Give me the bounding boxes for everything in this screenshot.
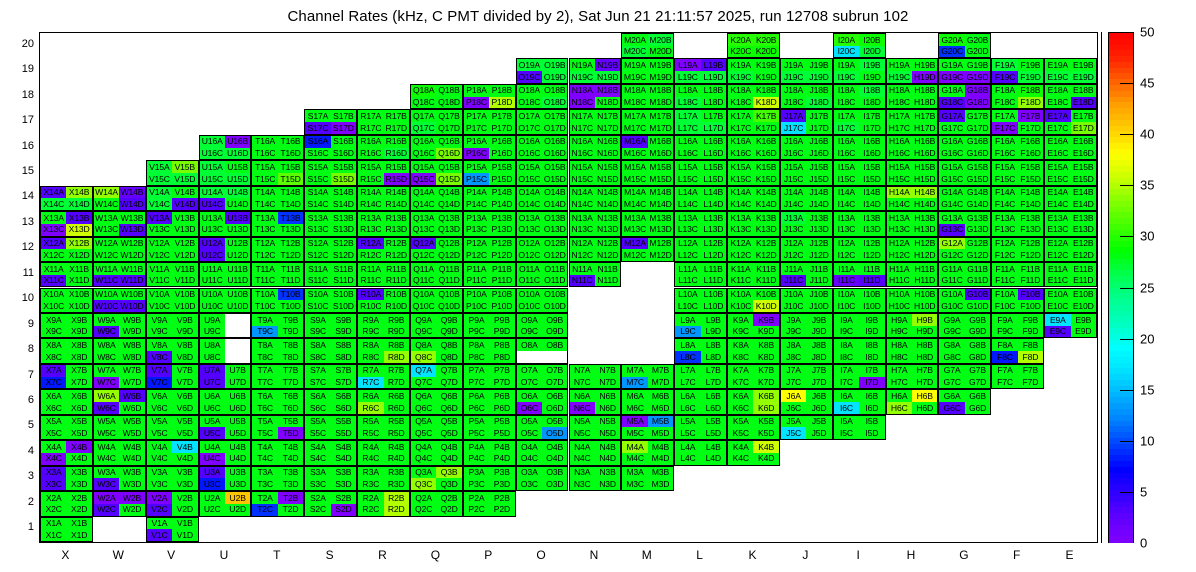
pmt-subchannel[interactable]: P13B (489, 212, 514, 224)
pmt-subchannel[interactable]: H12C (887, 249, 912, 261)
pmt-subchannel[interactable]: G11C (939, 275, 964, 287)
pmt-subchannel[interactable]: G12A (939, 238, 964, 250)
pmt-subchannel[interactable]: G19D (965, 71, 990, 83)
pmt-subchannel[interactable]: E12B (1071, 238, 1096, 250)
pmt-subchannel[interactable]: O10C (517, 300, 542, 312)
pmt-cell[interactable]: L6AL6BL6CL6D (674, 389, 727, 414)
pmt-subchannel[interactable]: O7D (542, 377, 567, 389)
pmt-cell[interactable]: W13AW13BW13CW13D (93, 211, 146, 236)
pmt-subchannel[interactable]: U12B (225, 238, 250, 250)
pmt-subchannel[interactable]: N11A (570, 263, 595, 275)
pmt-subchannel[interactable]: V8A (147, 339, 172, 351)
pmt-subchannel[interactable]: E17D (1071, 122, 1096, 134)
pmt-subchannel[interactable]: J13C (781, 224, 806, 236)
pmt-subchannel[interactable]: R13C (358, 224, 383, 236)
pmt-subchannel[interactable]: S7A (305, 365, 330, 377)
pmt-subchannel[interactable]: J11C (781, 275, 806, 287)
pmt-subchannel[interactable]: V15C (147, 173, 172, 185)
pmt-subchannel[interactable]: Q12A (411, 238, 436, 250)
pmt-subchannel[interactable]: S5B (331, 416, 356, 428)
pmt-subchannel[interactable]: P18B (489, 85, 514, 97)
pmt-subchannel[interactable]: E10B (1071, 289, 1096, 301)
pmt-cell[interactable]: J14AJ14BJ14CJ14D (780, 186, 833, 211)
pmt-subchannel[interactable]: X11D (66, 275, 91, 287)
pmt-subchannel[interactable]: X9D (66, 326, 91, 338)
pmt-subchannel[interactable]: K12C (728, 249, 753, 261)
pmt-cell[interactable]: K12AK12BK12CK12D (727, 237, 780, 262)
pmt-subchannel[interactable]: T14A (252, 187, 277, 199)
pmt-subchannel[interactable]: Q18B (436, 85, 461, 97)
pmt-subchannel[interactable]: V1B (172, 518, 197, 530)
pmt-subchannel[interactable]: N4A (570, 441, 595, 453)
pmt-subchannel[interactable]: P15B (489, 161, 514, 173)
pmt-subchannel[interactable]: O5B (542, 416, 567, 428)
pmt-subchannel[interactable]: M16D (648, 148, 673, 160)
pmt-cell[interactable]: K11AK11BK11CK11D (727, 262, 780, 287)
pmt-cell[interactable]: J13AJ13BJ13CJ13D (780, 211, 833, 236)
pmt-subchannel[interactable]: V5A (147, 416, 172, 428)
pmt-subchannel[interactable]: W7B (119, 365, 144, 377)
pmt-subchannel[interactable]: T4C (252, 453, 277, 465)
pmt-subchannel[interactable]: T15A (252, 161, 277, 173)
pmt-cell[interactable]: H17AH17BH17CH17D (886, 109, 939, 134)
pmt-subchannel[interactable]: O13B (542, 212, 567, 224)
pmt-subchannel[interactable]: U3B (225, 467, 250, 479)
pmt-subchannel[interactable]: I12A (834, 238, 859, 250)
pmt-subchannel[interactable]: U13D (225, 224, 250, 236)
pmt-cell[interactable]: W14AW14BW14CW14D (93, 186, 146, 211)
pmt-cell[interactable]: H6AH6BH6CH6D (886, 389, 939, 414)
pmt-cell[interactable]: F15AF15BF15CF15D (991, 160, 1044, 185)
pmt-subchannel[interactable]: O19C (517, 71, 542, 83)
pmt-subchannel[interactable]: K6D (753, 402, 778, 414)
pmt-subchannel[interactable]: G13A (939, 212, 964, 224)
pmt-subchannel[interactable]: S8D (331, 351, 356, 363)
pmt-cell[interactable]: N5AN5BN5CN5D (569, 415, 622, 440)
pmt-subchannel[interactable]: M7A (622, 365, 647, 377)
pmt-subchannel[interactable]: I14D (859, 198, 884, 210)
pmt-subchannel[interactable]: R10C (358, 300, 383, 312)
pmt-subchannel[interactable]: M15B (648, 161, 673, 173)
pmt-subchannel[interactable]: M6A (622, 390, 647, 402)
pmt-subchannel[interactable]: O3A (517, 467, 542, 479)
pmt-cell[interactable]: W9AW9BW9CW9D (93, 313, 146, 338)
pmt-subchannel[interactable]: H14B (912, 187, 937, 199)
pmt-subchannel[interactable]: K17D (753, 122, 778, 134)
pmt-subchannel[interactable]: S17D (331, 122, 356, 134)
pmt-subchannel[interactable]: L5B (701, 416, 726, 428)
pmt-subchannel[interactable]: F13A (992, 212, 1017, 224)
pmt-subchannel[interactable]: V3D (172, 478, 197, 490)
pmt-subchannel[interactable]: H19C (887, 71, 912, 83)
pmt-subchannel[interactable]: J6D (806, 402, 831, 414)
pmt-subchannel[interactable]: N4B (595, 441, 620, 453)
pmt-subchannel[interactable]: R17B (384, 110, 409, 122)
pmt-cell[interactable]: E15AE15BE15CE15D (1044, 160, 1097, 185)
pmt-subchannel[interactable]: R14B (384, 187, 409, 199)
pmt-subchannel[interactable]: G8D (965, 351, 990, 363)
pmt-subchannel[interactable]: H17D (912, 122, 937, 134)
pmt-subchannel[interactable]: V6B (172, 390, 197, 402)
pmt-subchannel[interactable]: N16D (595, 148, 620, 160)
pmt-subchannel[interactable]: J9D (806, 326, 831, 338)
pmt-cell[interactable]: S16AS16BS16CS16D (304, 135, 357, 160)
pmt-subchannel[interactable]: M13A (622, 212, 647, 224)
pmt-cell[interactable]: I12AI12BI12CI12D (833, 237, 886, 262)
pmt-subchannel[interactable]: U9C (200, 326, 225, 338)
pmt-subchannel[interactable]: R2C (358, 504, 383, 516)
pmt-subchannel[interactable]: S14D (331, 198, 356, 210)
pmt-subchannel[interactable]: J19C (781, 71, 806, 83)
pmt-subchannel[interactable]: P10B (489, 289, 514, 301)
pmt-subchannel[interactable]: L4C (675, 453, 700, 465)
pmt-subchannel[interactable]: M14B (648, 187, 673, 199)
pmt-subchannel[interactable]: S17A (305, 110, 330, 122)
pmt-subchannel[interactable]: W11C (94, 275, 119, 287)
pmt-subchannel[interactable]: R4C (358, 453, 383, 465)
pmt-cell[interactable]: O15AO15BO15CO15D (516, 160, 569, 185)
pmt-subchannel[interactable]: L11C (675, 275, 700, 287)
pmt-subchannel[interactable]: R7D (384, 377, 409, 389)
pmt-subchannel[interactable]: O14B (542, 187, 567, 199)
pmt-cell[interactable]: K9AK9BK9CK9D (727, 313, 780, 338)
pmt-subchannel[interactable]: J5B (806, 416, 831, 428)
pmt-subchannel[interactable]: M19A (622, 59, 647, 71)
pmt-subchannel[interactable]: W8D (119, 351, 144, 363)
pmt-subchannel[interactable]: E18D (1071, 97, 1096, 109)
pmt-subchannel[interactable]: T5D (278, 427, 303, 439)
pmt-cell[interactable]: P17AP17BP17CP17D (463, 109, 516, 134)
pmt-subchannel[interactable]: G10B (965, 289, 990, 301)
pmt-cell[interactable]: T6AT6BT6CT6D (251, 389, 304, 414)
pmt-cell[interactable]: T15AT15BT15CT15D (251, 160, 304, 185)
pmt-subchannel[interactable]: T3B (278, 467, 303, 479)
pmt-cell[interactable]: J9AJ9BJ9CJ9D (780, 313, 833, 338)
pmt-subchannel[interactable]: T7B (278, 365, 303, 377)
pmt-subchannel[interactable]: V6D (172, 402, 197, 414)
pmt-subchannel[interactable]: H13C (887, 224, 912, 236)
pmt-subchannel[interactable]: W13A (94, 212, 119, 224)
pmt-cell[interactable]: R7AR7BR7CR7D (357, 364, 410, 389)
pmt-subchannel[interactable]: U13C (200, 224, 225, 236)
pmt-subchannel[interactable]: I20B (859, 34, 884, 46)
pmt-subchannel[interactable]: E11A (1045, 263, 1070, 275)
pmt-subchannel[interactable]: W7C (94, 377, 119, 389)
pmt-subchannel[interactable]: H18B (912, 85, 937, 97)
pmt-subchannel[interactable]: V5B (172, 416, 197, 428)
pmt-subchannel[interactable]: X5D (66, 427, 91, 439)
pmt-subchannel[interactable]: M13D (648, 224, 673, 236)
pmt-subchannel[interactable]: X6C (41, 402, 66, 414)
pmt-subchannel[interactable]: T12C (252, 249, 277, 261)
pmt-cell[interactable]: F12AF12BF12CF12D (991, 237, 1044, 262)
pmt-subchannel[interactable]: G8B (965, 339, 990, 351)
pmt-cell[interactable]: J12AJ12BJ12CJ12D (780, 237, 833, 262)
pmt-subchannel[interactable]: M4B (648, 441, 673, 453)
pmt-subchannel[interactable]: M17B (648, 110, 673, 122)
pmt-cell[interactable]: E17AE17BE17CE17D (1044, 109, 1097, 134)
pmt-subchannel[interactable]: V1D (172, 529, 197, 541)
pmt-subchannel[interactable]: P7A (464, 365, 489, 377)
pmt-subchannel[interactable]: P17C (464, 122, 489, 134)
pmt-subchannel[interactable]: W3D (119, 478, 144, 490)
pmt-subchannel[interactable]: E11D (1071, 275, 1096, 287)
pmt-subchannel[interactable]: J8A (781, 339, 806, 351)
pmt-subchannel[interactable]: J9C (781, 326, 806, 338)
pmt-cell[interactable]: Q11AQ11BQ11CQ11D (410, 262, 463, 287)
pmt-subchannel[interactable]: O8B (542, 339, 567, 351)
pmt-subchannel[interactable]: T12D (278, 249, 303, 261)
pmt-subchannel[interactable]: O15B (542, 161, 567, 173)
pmt-subchannel[interactable]: H7C (887, 377, 912, 389)
pmt-cell[interactable]: L18AL18BL18CL18D (674, 84, 727, 109)
pmt-subchannel[interactable]: J13A (781, 212, 806, 224)
pmt-cell[interactable]: M14AM14BM14CM14D (621, 186, 674, 211)
pmt-subchannel[interactable]: L13C (675, 224, 700, 236)
pmt-subchannel[interactable]: V9B (172, 314, 197, 326)
pmt-subchannel[interactable]: P7C (464, 377, 489, 389)
pmt-subchannel[interactable]: R16D (384, 148, 409, 160)
pmt-subchannel[interactable]: J8D (806, 351, 831, 363)
pmt-subchannel[interactable]: U11B (225, 263, 250, 275)
pmt-cell[interactable]: F18AF18BF18CF18D (991, 84, 1044, 109)
pmt-subchannel[interactable]: G14C (939, 198, 964, 210)
pmt-cell[interactable]: E9AE9BE9CE9D (1044, 313, 1097, 338)
pmt-subchannel[interactable]: P17D (489, 122, 514, 134)
pmt-subchannel[interactable]: E19C (1045, 71, 1070, 83)
pmt-subchannel[interactable]: G6B (965, 390, 990, 402)
pmt-subchannel[interactable]: M15D (648, 173, 673, 185)
pmt-subchannel[interactable]: T6D (278, 402, 303, 414)
pmt-cell[interactable]: M20AM20BM20CM20D (621, 33, 674, 58)
pmt-subchannel[interactable]: M7D (648, 377, 673, 389)
pmt-cell[interactable]: I6AI6BI6CI6D (833, 389, 886, 414)
pmt-subchannel[interactable]: M20D (648, 46, 673, 58)
pmt-subchannel[interactable]: J6B (806, 390, 831, 402)
pmt-cell[interactable]: Q5AQ5BQ5CQ5D (410, 415, 463, 440)
pmt-subchannel[interactable]: G13C (939, 224, 964, 236)
pmt-subchannel[interactable]: L14C (675, 198, 700, 210)
pmt-cell[interactable]: E14AE14BE14CE14D (1044, 186, 1097, 211)
pmt-cell[interactable]: P15AP15BP15CP15D (463, 160, 516, 185)
pmt-subchannel[interactable]: Q13C (411, 224, 436, 236)
pmt-cell[interactable]: X4AX4BX4CX4D (40, 440, 93, 465)
pmt-subchannel[interactable]: N15B (595, 161, 620, 173)
pmt-subchannel[interactable]: Q8B (436, 339, 461, 351)
pmt-subchannel[interactable]: N6C (570, 402, 595, 414)
pmt-cell[interactable]: U10AU10BU10CU10D (199, 288, 252, 313)
pmt-subchannel[interactable]: Q13B (436, 212, 461, 224)
pmt-subchannel[interactable]: M3D (648, 478, 673, 490)
pmt-subchannel[interactable]: U13B (225, 212, 250, 224)
pmt-subchannel[interactable]: L8A (675, 339, 700, 351)
pmt-subchannel[interactable]: K15B (753, 161, 778, 173)
pmt-subchannel[interactable]: P18A (464, 85, 489, 97)
pmt-cell[interactable]: E11AE11BE11CE11D (1044, 262, 1097, 287)
pmt-cell[interactable]: S7AS7BS7CS7D (304, 364, 357, 389)
pmt-subchannel[interactable]: K8A (728, 339, 753, 351)
pmt-cell[interactable]: X8AX8BX8CX8D (40, 338, 93, 363)
pmt-subchannel[interactable]: N16B (595, 136, 620, 148)
pmt-subchannel[interactable]: K9C (728, 326, 753, 338)
pmt-subchannel[interactable]: Q9B (436, 314, 461, 326)
pmt-subchannel[interactable]: Q4B (436, 441, 461, 453)
pmt-subchannel[interactable]: P16C (464, 148, 489, 160)
pmt-subchannel[interactable]: T3D (278, 478, 303, 490)
pmt-cell[interactable]: T12AT12BT12CT12D (251, 237, 304, 262)
pmt-subchannel[interactable]: S9D (331, 326, 356, 338)
pmt-subchannel[interactable]: K7C (728, 377, 753, 389)
pmt-cell[interactable]: U8AU8C (199, 338, 252, 363)
pmt-subchannel[interactable]: I18D (859, 97, 884, 109)
pmt-subchannel[interactable]: J5C (781, 427, 806, 439)
pmt-cell[interactable]: S11AS11BS11CS11D (304, 262, 357, 287)
pmt-subchannel[interactable]: U16B (225, 136, 250, 148)
pmt-cell[interactable]: L13AL13BL13CL13D (674, 211, 727, 236)
pmt-subchannel[interactable]: P4D (489, 453, 514, 465)
pmt-subchannel[interactable]: M7B (648, 365, 673, 377)
pmt-subchannel[interactable]: I14C (834, 198, 859, 210)
pmt-cell[interactable]: X2AX2BX2CX2D (40, 491, 93, 516)
pmt-cell[interactable]: V4AV4BV4CV4D (146, 440, 199, 465)
pmt-subchannel[interactable]: I17B (859, 110, 884, 122)
pmt-subchannel[interactable]: O3B (542, 467, 567, 479)
pmt-subchannel[interactable]: K14D (753, 198, 778, 210)
pmt-subchannel[interactable]: G13B (965, 212, 990, 224)
pmt-subchannel[interactable]: J15D (806, 173, 831, 185)
pmt-subchannel[interactable]: M5D (648, 427, 673, 439)
pmt-subchannel[interactable]: M18A (622, 85, 647, 97)
pmt-subchannel[interactable]: N15A (570, 161, 595, 173)
pmt-subchannel[interactable]: S14A (305, 187, 330, 199)
pmt-subchannel[interactable]: O12A (517, 238, 542, 250)
pmt-subchannel[interactable]: P17B (489, 110, 514, 122)
pmt-subchannel[interactable]: R5C (358, 427, 383, 439)
pmt-cell[interactable]: W4AW4BW4CW4D (93, 440, 146, 465)
pmt-subchannel[interactable]: H18D (912, 97, 937, 109)
pmt-subchannel[interactable]: R10A (358, 289, 383, 301)
pmt-subchannel[interactable]: I15C (834, 173, 859, 185)
pmt-cell[interactable]: K4AK4BK4CK4D (727, 440, 780, 465)
pmt-cell[interactable]: V10AV10BV10CV10D (146, 288, 199, 313)
pmt-subchannel[interactable]: E17A (1045, 110, 1070, 122)
pmt-subchannel[interactable]: U4D (225, 453, 250, 465)
pmt-subchannel[interactable]: K11A (728, 263, 753, 275)
pmt-subchannel[interactable]: T6B (278, 390, 303, 402)
pmt-subchannel[interactable]: L9D (701, 326, 726, 338)
pmt-subchannel[interactable]: V3A (147, 467, 172, 479)
pmt-subchannel[interactable]: T2C (252, 504, 277, 516)
pmt-subchannel[interactable]: Q4D (436, 453, 461, 465)
pmt-subchannel[interactable]: O16D (542, 148, 567, 160)
pmt-subchannel[interactable]: O17B (542, 110, 567, 122)
pmt-cell[interactable]: L10AL10BL10CL10D (674, 288, 727, 313)
pmt-subchannel[interactable]: P5A (464, 416, 489, 428)
pmt-subchannel[interactable]: Q2D (436, 504, 461, 516)
pmt-cell[interactable]: V9AV9BV9CV9D (146, 313, 199, 338)
pmt-subchannel[interactable]: E16C (1045, 148, 1070, 160)
pmt-subchannel[interactable]: L18D (701, 97, 726, 109)
pmt-subchannel[interactable]: K20D (753, 46, 778, 58)
pmt-subchannel[interactable]: Q14A (411, 187, 436, 199)
pmt-subchannel[interactable]: K12D (753, 249, 778, 261)
pmt-subchannel[interactable]: O4B (542, 441, 567, 453)
pmt-subchannel[interactable]: H10D (912, 300, 937, 312)
pmt-subchannel[interactable]: R9C (358, 326, 383, 338)
pmt-cell[interactable]: J8AJ8BJ8CJ8D (780, 338, 833, 363)
pmt-subchannel[interactable]: G18D (965, 97, 990, 109)
pmt-subchannel[interactable]: V10C (147, 300, 172, 312)
pmt-subchannel[interactable]: G9A (939, 314, 964, 326)
pmt-cell[interactable]: P10AP10BP10CP10D (463, 288, 516, 313)
pmt-subchannel[interactable]: R15B (384, 161, 409, 173)
pmt-cell[interactable]: O5AO5BO5CO5D (516, 415, 569, 440)
pmt-subchannel[interactable]: S3B (331, 467, 356, 479)
pmt-subchannel[interactable]: P15D (489, 173, 514, 185)
pmt-cell[interactable]: T8AT8BT8CT8D (251, 338, 304, 363)
pmt-subchannel[interactable]: N19B (595, 59, 620, 71)
pmt-subchannel[interactable]: R7A (358, 365, 383, 377)
pmt-subchannel[interactable]: Q12C (411, 249, 436, 261)
pmt-subchannel[interactable]: F7B (1018, 365, 1043, 377)
pmt-subchannel[interactable]: Q15B (436, 161, 461, 173)
pmt-subchannel[interactable]: N16A (570, 136, 595, 148)
pmt-cell[interactable]: R9AR9BR9CR9D (357, 313, 410, 338)
pmt-subchannel[interactable]: L10B (701, 289, 726, 301)
pmt-subchannel[interactable]: V5C (147, 427, 172, 439)
pmt-subchannel[interactable]: S3C (305, 478, 330, 490)
pmt-subchannel[interactable]: I10B (859, 289, 884, 301)
pmt-subchannel[interactable]: K11C (728, 275, 753, 287)
pmt-subchannel[interactable]: G17A (939, 110, 964, 122)
pmt-subchannel[interactable]: O12C (517, 249, 542, 261)
pmt-cell[interactable]: S8AS8BS8CS8D (304, 338, 357, 363)
pmt-subchannel[interactable]: N6A (570, 390, 595, 402)
pmt-subchannel[interactable]: L17D (701, 122, 726, 134)
pmt-subchannel[interactable]: N3A (570, 467, 595, 479)
pmt-subchannel[interactable]: S15B (331, 161, 356, 173)
pmt-subchannel[interactable]: T16A (252, 136, 277, 148)
pmt-subchannel[interactable]: E9B (1071, 314, 1096, 326)
pmt-cell[interactable]: T4AT4BT4CT4D (251, 440, 304, 465)
pmt-cell[interactable]: U12AU12BU12CU12D (199, 237, 252, 262)
pmt-cell[interactable]: T9AT9BT9CT9D (251, 313, 304, 338)
pmt-subchannel[interactable]: O10D (542, 300, 567, 312)
pmt-subchannel[interactable]: U10D (225, 300, 250, 312)
pmt-subchannel[interactable]: G17B (965, 110, 990, 122)
pmt-cell[interactable]: O6AO6BO6CO6D (516, 389, 569, 414)
pmt-subchannel[interactable]: K20C (728, 46, 753, 58)
pmt-subchannel[interactable]: G6A (939, 390, 964, 402)
pmt-cell[interactable]: O16AO16BO16CO16D (516, 135, 569, 160)
pmt-subchannel[interactable]: N19D (595, 71, 620, 83)
pmt-subchannel[interactable]: E9C (1045, 326, 1070, 338)
pmt-subchannel[interactable]: O9B (542, 314, 567, 326)
pmt-subchannel[interactable]: W5A (94, 416, 119, 428)
pmt-cell[interactable]: N7AN7BN7CN7D (569, 364, 622, 389)
pmt-subchannel[interactable]: L19A (675, 59, 700, 71)
pmt-cell[interactable]: V15AV15BV15CV15D (146, 160, 199, 185)
pmt-subchannel[interactable]: I7B (859, 365, 884, 377)
pmt-cell[interactable]: Q14AQ14BQ14CQ14D (410, 186, 463, 211)
pmt-subchannel[interactable]: I19A (834, 59, 859, 71)
pmt-cell[interactable]: K14AK14BK14CK14D (727, 186, 780, 211)
pmt-subchannel[interactable]: V14C (147, 198, 172, 210)
pmt-subchannel[interactable]: I12D (859, 249, 884, 261)
pmt-subchannel[interactable]: P2D (489, 504, 514, 516)
pmt-subchannel[interactable]: N13A (570, 212, 595, 224)
pmt-subchannel[interactable]: K18C (728, 97, 753, 109)
